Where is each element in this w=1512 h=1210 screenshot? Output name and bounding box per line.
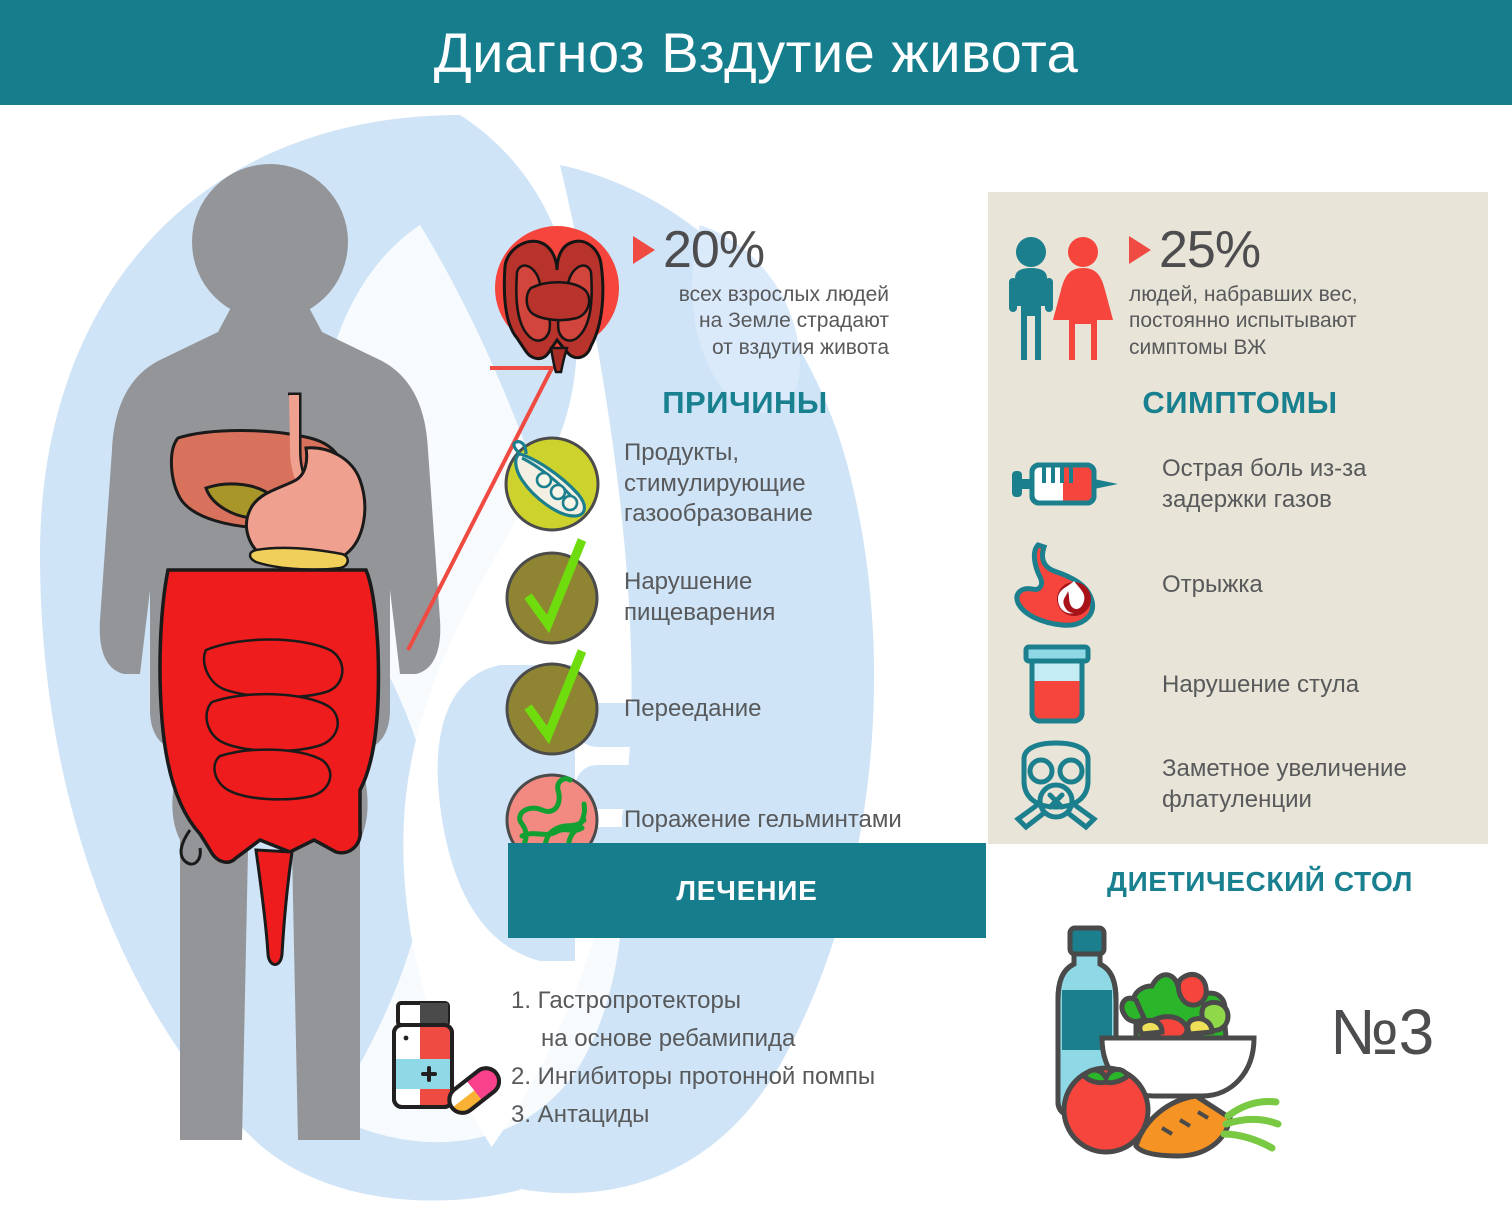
list-item-label: Нарушение стула: [1120, 670, 1359, 701]
checkmark-circle-icon: [500, 657, 604, 761]
treatment-header-bar: ЛЕЧЕНИЕ: [508, 843, 986, 938]
stomach-flame-icon: [1010, 541, 1120, 629]
list-item: Заметное увеличение флатуленции: [1010, 735, 1490, 835]
primary-stat-block: 20% всех взрослых людей на Земле страдаю…: [487, 222, 887, 372]
primary-stat-value: 20%: [663, 224, 764, 276]
checkmark-circle-icon: [500, 546, 604, 650]
treatment-title: ЛЕЧЕНИЕ: [676, 875, 817, 907]
secondary-stat-line-3: симптомы ВЖ: [1129, 335, 1469, 361]
primary-stat-text: 20% всех взрослых людей на Земле страдаю…: [633, 222, 889, 361]
gas-mask-icon: [1010, 741, 1120, 829]
primary-stat-value-row: 20%: [633, 222, 889, 278]
list-item: Нарушение пищеварения: [500, 543, 1000, 653]
list-item: на основе ребамипида: [511, 1020, 981, 1058]
diet-title: ДИЕТИЧЕСКИЙ СТОЛ: [1040, 866, 1480, 898]
list-item-label: Продукты, стимулирующие газообразование: [604, 438, 813, 530]
secondary-stat-value: 25%: [1159, 224, 1260, 276]
large-intestine-icon: [487, 222, 627, 372]
list-item-label: Острая боль из-за задержки газов: [1120, 454, 1367, 515]
list-item: Продукты, стимулирующие газообразование: [500, 425, 1000, 543]
syringe-icon: [1010, 441, 1120, 529]
infographic-page: Диагноз Вздутие живота: [0, 0, 1512, 1210]
specimen-jar-icon: [1010, 641, 1120, 729]
list-item: Острая боль из-за задержки газов: [1010, 435, 1490, 535]
causes-list: Продукты, стимулирующие газообразование …: [500, 425, 1000, 875]
triangle-right-icon: [633, 236, 655, 264]
primary-stat-line-1: всех взрослых людей: [633, 282, 889, 308]
medicine-bottle-pills-icon: [376, 995, 502, 1120]
list-item: Нарушение стула: [1010, 635, 1490, 735]
list-item: 3. Антациды: [511, 1096, 981, 1134]
man-woman-icon: [1005, 234, 1117, 364]
page-title: Диагноз Вздутие живота: [434, 25, 1079, 81]
list-item: 1. Гастропротекторы: [511, 982, 981, 1020]
list-item: Отрыжка: [1010, 535, 1490, 635]
list-item-label: Отрыжка: [1120, 570, 1263, 601]
list-item: 2. Ингибиторы протонной помпы: [511, 1058, 981, 1096]
secondary-stat-value-row: 25%: [1129, 222, 1469, 278]
causes-title: ПРИЧИНЫ: [545, 385, 945, 421]
triangle-right-icon: [1129, 236, 1151, 264]
list-item-label: Заметное увеличение флатуленции: [1120, 754, 1407, 815]
pea-pod-icon: [500, 432, 604, 536]
vegetables-water-icon: [1040, 920, 1320, 1160]
page-header: Диагноз Вздутие живота: [0, 0, 1512, 105]
primary-stat-line-3: от вздутия живота: [633, 335, 889, 361]
symptoms-list: Острая боль из-за задержки газов Отрыжка: [1010, 435, 1490, 835]
symptoms-title: СИМПТОМЫ: [1030, 385, 1450, 421]
secondary-stat-line-1: людей, набравших вес,: [1129, 282, 1469, 308]
secondary-stat-block: 25% людей, набравших вес, постоянно испы…: [1005, 222, 1475, 372]
list-item-label: Поражение гельминтами: [604, 805, 902, 836]
secondary-stat-text: 25% людей, набравших вес, постоянно испы…: [1129, 222, 1469, 361]
list-item-label: Нарушение пищеварения: [604, 567, 775, 628]
primary-stat-line-2: на Земле страдают: [633, 308, 889, 334]
list-item-label: Переедание: [604, 694, 761, 725]
secondary-stat-line-2: постоянно испытывают: [1129, 308, 1469, 334]
list-item: Переедание: [500, 653, 1000, 765]
treatment-list: 1. Гастропротекторы на основе ребамипида…: [511, 982, 981, 1134]
diet-number: №3: [1330, 1000, 1434, 1064]
